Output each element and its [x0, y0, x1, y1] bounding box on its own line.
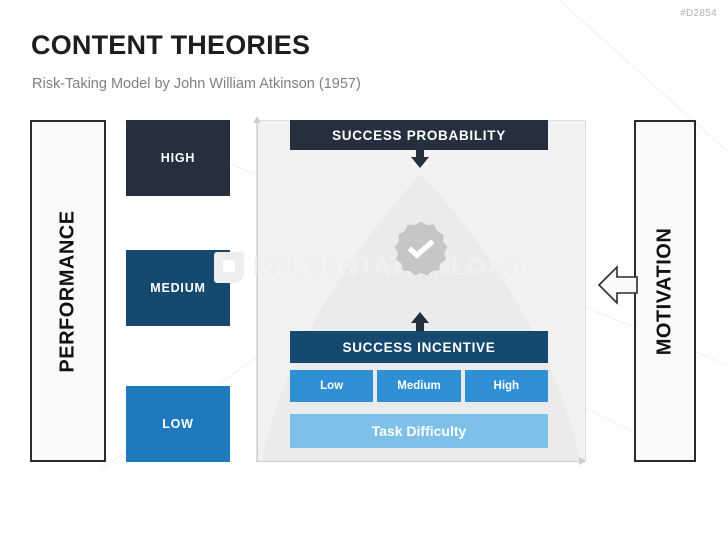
x-axis-line — [256, 461, 582, 462]
success-incentive-label: SUCCESS INCENTIVE — [343, 340, 496, 355]
motivation-axis-label: MOTIVATION — [654, 227, 677, 355]
task-difficulty-label: Task Difficulty — [372, 423, 467, 439]
badge-check-icon — [390, 220, 452, 282]
task-difficulty-cell-low[interactable]: Low — [290, 370, 373, 402]
page-title: CONTENT THEORIES — [31, 30, 310, 61]
task-difficulty-bar[interactable]: Task Difficulty — [290, 414, 548, 448]
performance-axis-panel: PERFORMANCE — [30, 120, 106, 462]
success-probability-bar[interactable]: SUCCESS PROBABILITY — [290, 120, 548, 150]
task-difficulty-cell-high-label: High — [494, 380, 520, 392]
success-incentive-bar[interactable]: SUCCESS INCENTIVE — [290, 331, 548, 363]
performance-level-high[interactable]: HIGH — [126, 120, 230, 196]
slide-canvas: #D2854 CONTENT THEORIES Risk-Taking Mode… — [0, 0, 727, 545]
task-difficulty-cell-medium-label: Medium — [397, 380, 440, 392]
motivation-arrow-left-icon — [598, 264, 638, 306]
performance-level-low[interactable]: LOW — [126, 386, 230, 462]
performance-level-low-label: LOW — [162, 417, 194, 431]
performance-level-high-label: HIGH — [161, 151, 195, 165]
performance-axis-label-wrap: PERFORMANCE — [32, 122, 104, 460]
page-subtitle: Risk-Taking Model by John William Atkins… — [32, 76, 361, 92]
motivation-axis-label-wrap: MOTIVATION — [636, 122, 694, 460]
x-axis-arrow-icon — [579, 457, 586, 465]
performance-axis-label: PERFORMANCE — [57, 210, 80, 372]
performance-level-medium[interactable]: MEDIUM — [126, 250, 230, 326]
task-difficulty-cell-high[interactable]: High — [465, 370, 548, 402]
motivation-axis-panel: MOTIVATION — [634, 120, 696, 462]
performance-level-medium-label: MEDIUM — [150, 281, 206, 295]
task-difficulty-levels-row: Low Medium High — [290, 370, 548, 402]
y-axis-line — [257, 120, 258, 462]
success-probability-label: SUCCESS PROBABILITY — [332, 128, 506, 143]
document-id: #D2854 — [680, 8, 717, 19]
arrow-up-stem — [416, 322, 424, 331]
arrow-down-head — [411, 157, 429, 168]
y-axis-arrow-icon — [253, 116, 261, 123]
arrow-up-icon — [411, 312, 429, 331]
task-difficulty-cell-medium[interactable]: Medium — [377, 370, 460, 402]
task-difficulty-cell-low-label: Low — [320, 380, 343, 392]
